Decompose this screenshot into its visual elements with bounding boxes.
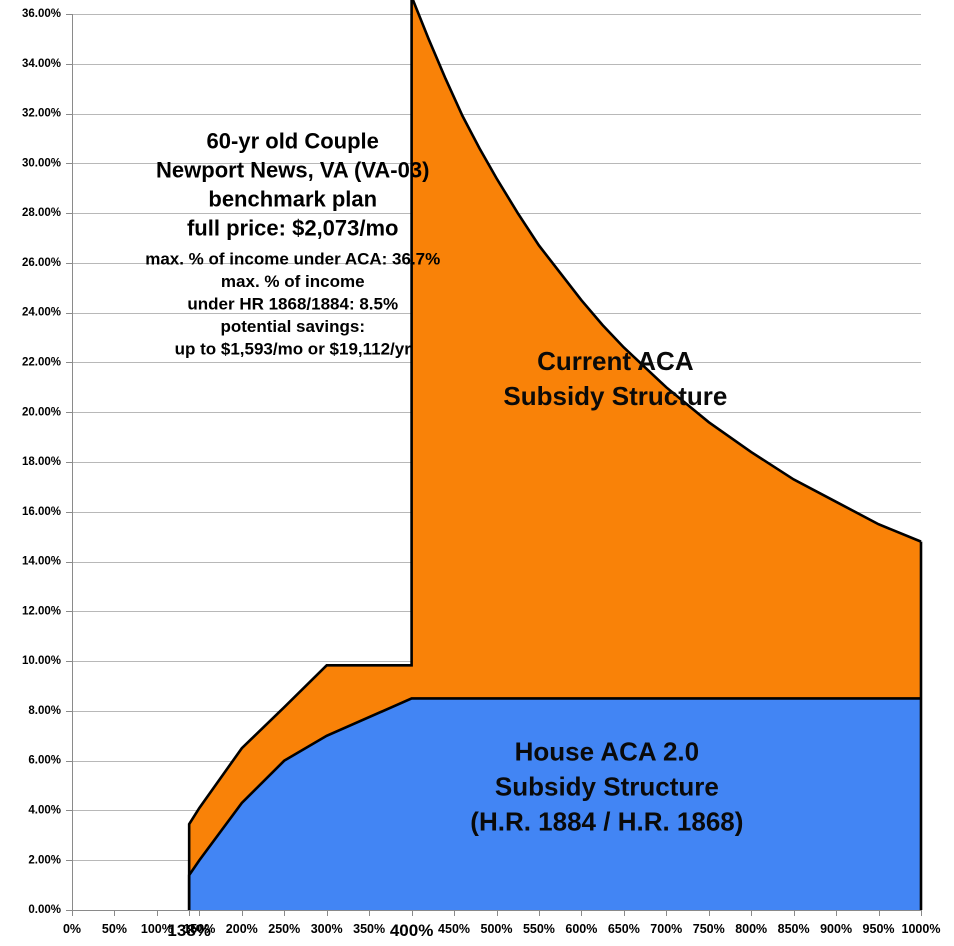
chart-container: 0.00%2.00%4.00%6.00%8.00%10.00%12.00%14.… [0,0,954,946]
x-axis-tick-label: 450% [438,922,470,936]
y-axis-tick-label: 16.00% [22,506,61,518]
annotation-line-6: under HR 1868/1884: 8.5% [187,294,398,313]
house-aca-label-line: House ACA 2.0 [515,737,699,767]
y-axis-tick-label: 32.00% [22,108,61,120]
x-axis-tick-label: 900% [820,922,852,936]
x-axis-tick-label: 500% [481,922,513,936]
annotation-line-8: up to $1,593/mo or $19,112/yr [175,339,412,358]
x-axis-tick-labels: 0%50%100%138%150%200%250%300%350%400%450… [63,921,941,940]
annotation-line-4: max. % of income under ACA: 36.7% [145,250,440,269]
x-axis-tick-label: 50% [102,922,127,936]
y-axis-tick-label: 8.00% [28,705,61,717]
y-axis-tick-label: 2.00% [28,854,61,866]
annotation-line-0: 60-yr old Couple [207,128,379,153]
x-axis-tick-label: 950% [863,922,895,936]
y-axis-tick-label: 20.00% [22,406,61,418]
y-axis-tick-label: 6.00% [28,755,61,767]
x-axis-tick-label: 350% [353,922,385,936]
x-axis-tick-label: 800% [735,922,767,936]
x-axis-tick-label: 750% [693,922,725,936]
y-axis-tick-label: 34.00% [22,58,61,70]
house-aca-label-line: Subsidy Structure [495,772,719,802]
y-axis-tick-label: 26.00% [22,257,61,269]
x-axis-tick-label: 150% [183,922,215,936]
y-axis-tick-labels: 0.00%2.00%4.00%6.00%8.00%10.00%12.00%14.… [22,8,61,916]
annotation-line-1: Newport News, VA (VA-03) [156,157,429,182]
y-axis-tick-label: 0.00% [28,904,61,916]
current-aca-label-line: Current ACA [537,346,694,376]
y-axis-tick-label: 36.00% [22,8,61,20]
annotation-line-7: potential savings: [220,317,365,336]
y-axis-tick-label: 10.00% [22,655,61,667]
annotation-line-2: benchmark plan [208,186,377,211]
x-axis-tick-label: 700% [650,922,682,936]
y-axis-tick-label: 14.00% [22,556,61,568]
x-axis-tick-label: 250% [268,922,300,936]
annotation-line-3: full price: $2,073/mo [187,216,399,241]
y-axis-tick-label: 30.00% [22,157,61,169]
y-axis-tick-label: 18.00% [22,456,61,468]
x-axis-tick-label: 600% [565,922,597,936]
x-axis-tick-label: 650% [608,922,640,936]
y-axis-tick-label: 12.00% [22,605,61,617]
x-axis-tick-label: 300% [311,922,343,936]
y-axis-tick-label: 28.00% [22,207,61,219]
y-axis-tick-label: 4.00% [28,804,61,816]
house-aca-label-line: (H.R. 1884 / H.R. 1868) [470,806,743,836]
x-axis-tick-label: 1000% [902,922,941,936]
y-axis-tick-label: 22.00% [22,356,61,368]
x-axis-tick-label: 200% [226,922,258,936]
x-axis-tick-label: 400% [390,921,433,940]
current-aca-label-line: Subsidy Structure [503,381,727,411]
y-axis-tick-label: 24.00% [22,307,61,319]
x-axis-tick-label: 850% [778,922,810,936]
annotation-line-5: max. % of income [221,272,365,291]
subsidy-area-chart: 0.00%2.00%4.00%6.00%8.00%10.00%12.00%14.… [0,0,954,946]
x-axis-tick-label: 550% [523,922,555,936]
x-axis-tick-label: 0% [63,922,81,936]
